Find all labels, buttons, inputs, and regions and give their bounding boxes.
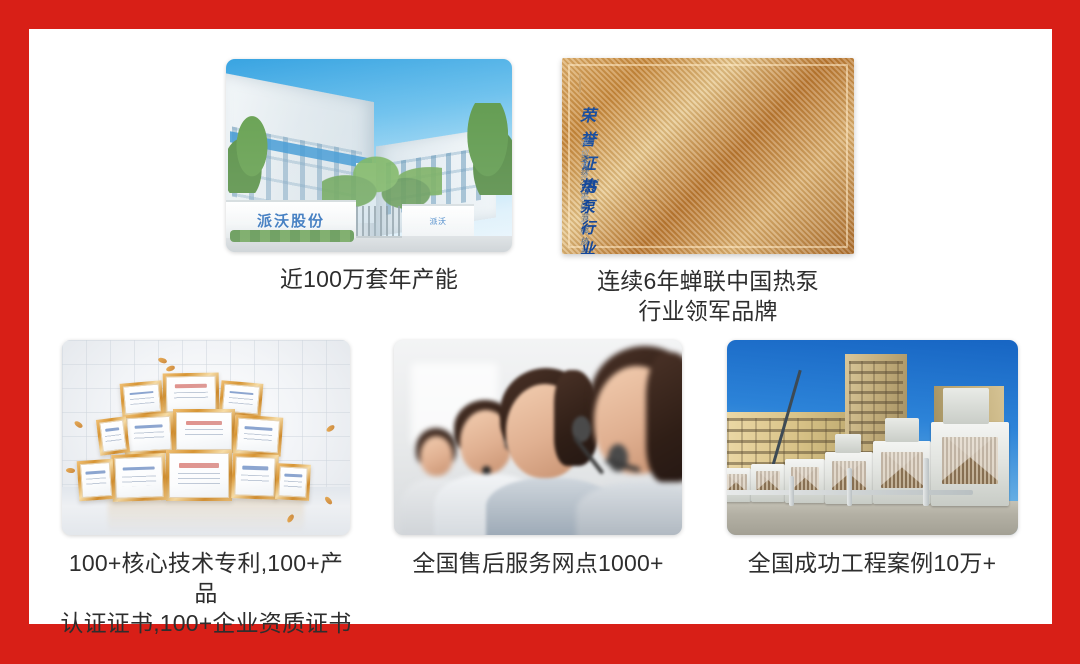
framed-certificate <box>233 414 284 456</box>
framed-certificate <box>275 463 311 501</box>
card-certificate[interactable]: 荣誉证书 深圳市派沃新能源科技股份有限公司 荣获2021中国节能协会节能减排企业… <box>562 58 854 254</box>
pipe-riser <box>789 476 794 506</box>
heat-pump-unit <box>751 464 785 502</box>
unit-fan-housing <box>885 418 919 442</box>
bottom-row: 100+核心技术专利,100+产品 认证证书,100+企业资质证书 <box>29 311 1052 624</box>
certificate-wall-photo <box>62 340 350 535</box>
framed-certificate <box>173 409 235 453</box>
promo-slide: 派沃股份 派沃 近100万套年产能 荣誉证书 深圳市派沃新能源科技股份有限公司 … <box>0 0 1080 664</box>
framed-certificate <box>123 413 175 456</box>
pipe-riser <box>847 468 852 506</box>
caption-call-center: 全国售后服务网点1000+ <box>394 548 682 578</box>
ground-pavement <box>727 501 1018 535</box>
card-factory[interactable]: 派沃股份 派沃 近100万套年产能 <box>226 59 512 252</box>
caption-factory: 近100万套年产能 <box>224 264 514 294</box>
unit-fan-housing <box>835 434 861 453</box>
card-call-center[interactable]: 全国售后服务网点1000+ <box>394 340 682 535</box>
gold-picture-frame: 荣誉证书 深圳市派沃新能源科技股份有限公司 荣获2021中国节能协会节能减排企业… <box>562 58 854 254</box>
framed-certificate <box>77 459 116 501</box>
factory-exterior-photo: 派沃股份 派沃 <box>226 59 512 252</box>
call-center-agents-photo <box>394 340 682 535</box>
certificate-paper: 荣誉证书 深圳市派沃新能源科技股份有限公司 荣获2021中国节能协会节能减排企业… <box>579 74 581 93</box>
caption-certificate-wall: 100+核心技术专利,100+产品 认证证书,100+企业资质证书 <box>58 548 354 638</box>
caption-engineering-case: 全国成功工程案例10万+ <box>721 548 1023 578</box>
top-row: 派沃股份 派沃 近100万套年产能 荣誉证书 深圳市派沃新能源科技股份有限公司 … <box>29 29 1052 319</box>
honor-certificate-photo: 荣誉证书 深圳市派沃新能源科技股份有限公司 荣获2021中国节能协会节能减排企业… <box>562 58 854 254</box>
unit-fan-housing <box>943 388 989 424</box>
heat-pump-unit <box>727 468 751 502</box>
framed-certificate <box>111 453 167 502</box>
card-engineering-case[interactable]: 全国成功工程案例10万+ <box>727 340 1018 535</box>
card-certificate-wall[interactable]: 100+核心技术专利,100+产品 认证证书,100+企业资质证书 <box>62 340 350 535</box>
pipe-riser <box>923 458 929 506</box>
photo-haze-overlay <box>226 59 512 252</box>
heat-pump-installation-photo <box>727 340 1018 535</box>
framed-certificate <box>166 450 232 501</box>
framed-certificate <box>96 416 130 455</box>
floor-reflection <box>108 499 304 533</box>
framed-certificate <box>231 453 279 500</box>
framed-certificate <box>120 380 165 418</box>
white-content-panel: 派沃股份 派沃 近100万套年产能 荣誉证书 深圳市派沃新能源科技股份有限公司 … <box>29 29 1052 624</box>
